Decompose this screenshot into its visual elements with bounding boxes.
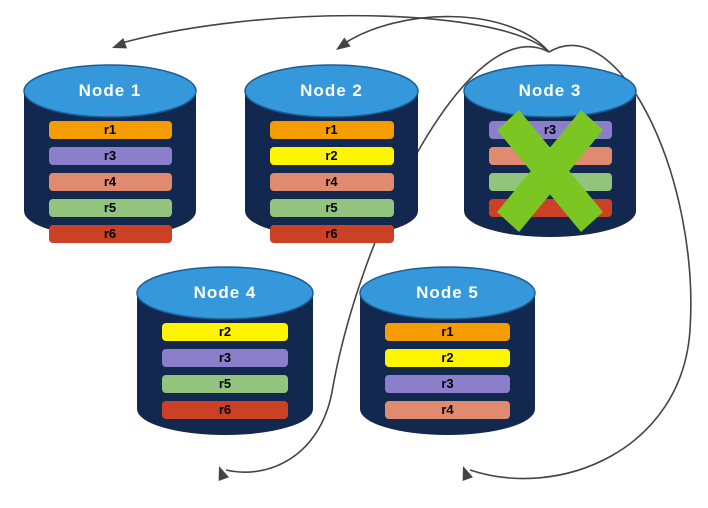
database-node-node3[interactable]: Node 3r3 bbox=[462, 63, 638, 239]
replica-list-node3: r3 bbox=[462, 121, 638, 217]
replica-row bbox=[489, 147, 612, 165]
replica-row: r5 bbox=[49, 199, 172, 217]
replica-row bbox=[489, 173, 612, 191]
database-node-node2[interactable]: Node 2r1r2r4r5r6 bbox=[243, 63, 420, 239]
replica-row: r3 bbox=[49, 147, 172, 165]
database-node-node4[interactable]: Node 4r2r3r5r6 bbox=[135, 265, 315, 437]
edge-node3-to-node2 bbox=[342, 17, 549, 52]
replica-row: r4 bbox=[385, 401, 510, 419]
replica-row bbox=[489, 199, 612, 217]
cylinder-top-ellipse bbox=[24, 65, 196, 117]
database-node-node5[interactable]: Node 5r1r2r3r4 bbox=[358, 265, 537, 437]
edge-node3-to-node5-arrowhead bbox=[458, 464, 473, 481]
replica-list-node4: r2r3r5r6 bbox=[135, 323, 315, 419]
replica-row: r6 bbox=[162, 401, 288, 419]
cylinder-top-ellipse bbox=[245, 65, 418, 117]
replica-row: r6 bbox=[270, 225, 394, 243]
edge-node3-to-node4-arrowhead bbox=[214, 464, 229, 481]
replica-row: r3 bbox=[489, 121, 612, 139]
edge-node3-to-node2-arrowhead bbox=[333, 37, 351, 54]
edge-node3-to-node1 bbox=[118, 16, 549, 52]
diagram-canvas: Node 1r1r3r4r5r6Node 2r1r2r4r5r6Node 3r3… bbox=[0, 0, 708, 508]
cylinder-top-ellipse bbox=[137, 267, 313, 319]
replica-list-node5: r1r2r3r4 bbox=[358, 323, 537, 419]
replica-row: r4 bbox=[270, 173, 394, 191]
edge-node3-to-node1-arrowhead bbox=[110, 38, 127, 53]
cylinder-top-ellipse bbox=[360, 267, 535, 319]
replica-row: r5 bbox=[162, 375, 288, 393]
replica-row: r6 bbox=[49, 225, 172, 243]
replica-row: r2 bbox=[385, 349, 510, 367]
database-node-node1[interactable]: Node 1r1r3r4r5r6 bbox=[22, 63, 198, 239]
replica-row: r3 bbox=[385, 375, 510, 393]
replica-row: r5 bbox=[270, 199, 394, 217]
replica-list-node1: r1r3r4r5r6 bbox=[22, 121, 198, 243]
replica-row: r2 bbox=[162, 323, 288, 341]
replica-row: r1 bbox=[270, 121, 394, 139]
replica-row: r3 bbox=[162, 349, 288, 367]
replica-row: r4 bbox=[49, 173, 172, 191]
replica-row: r1 bbox=[385, 323, 510, 341]
cylinder-top-ellipse bbox=[464, 65, 636, 117]
replica-row: r1 bbox=[49, 121, 172, 139]
replica-row: r2 bbox=[270, 147, 394, 165]
replica-list-node2: r1r2r4r5r6 bbox=[243, 121, 420, 243]
